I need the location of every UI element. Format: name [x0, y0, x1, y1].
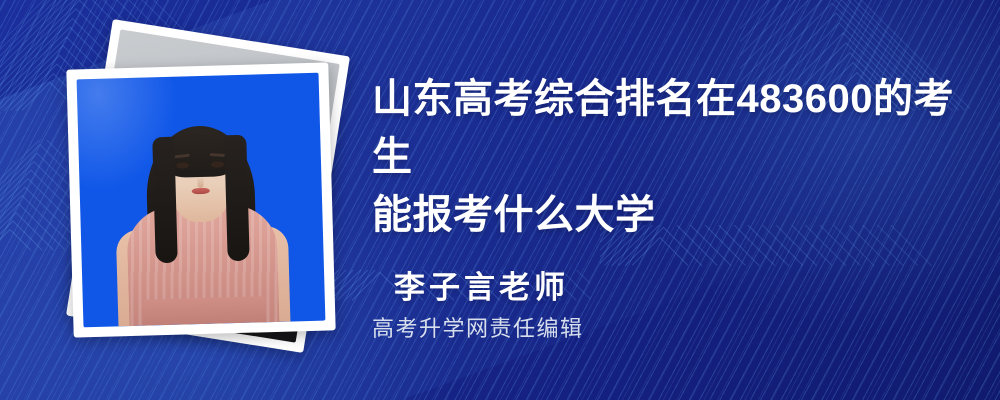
portrait-photo-icon: [77, 73, 326, 328]
byline: 李子言老师 高考升学网责任编辑: [394, 268, 914, 344]
page-title-line-1: 山东高考综合排名在483600的考生: [372, 70, 972, 186]
hair-side-right: [224, 134, 250, 261]
page-title-line-2: 能报考什么大学: [372, 186, 972, 244]
portrait-photo-stack: [48, 30, 348, 360]
portrait-figure: [77, 73, 326, 328]
article-header-banner: 山东高考综合排名在483600的考生 能报考什么大学 李子言老师 高考升学网责任…: [0, 0, 1000, 400]
eye-left: [176, 162, 189, 168]
photo-card-front: [66, 62, 335, 337]
eye-right: [211, 161, 224, 167]
author-name: 李子言老师: [394, 268, 914, 308]
dress-waist: [142, 296, 267, 325]
page-title: 山东高考综合排名在483600的考生 能报考什么大学: [372, 70, 972, 244]
nose: [197, 176, 203, 188]
author-role: 高考升学网责任编辑: [372, 314, 914, 344]
